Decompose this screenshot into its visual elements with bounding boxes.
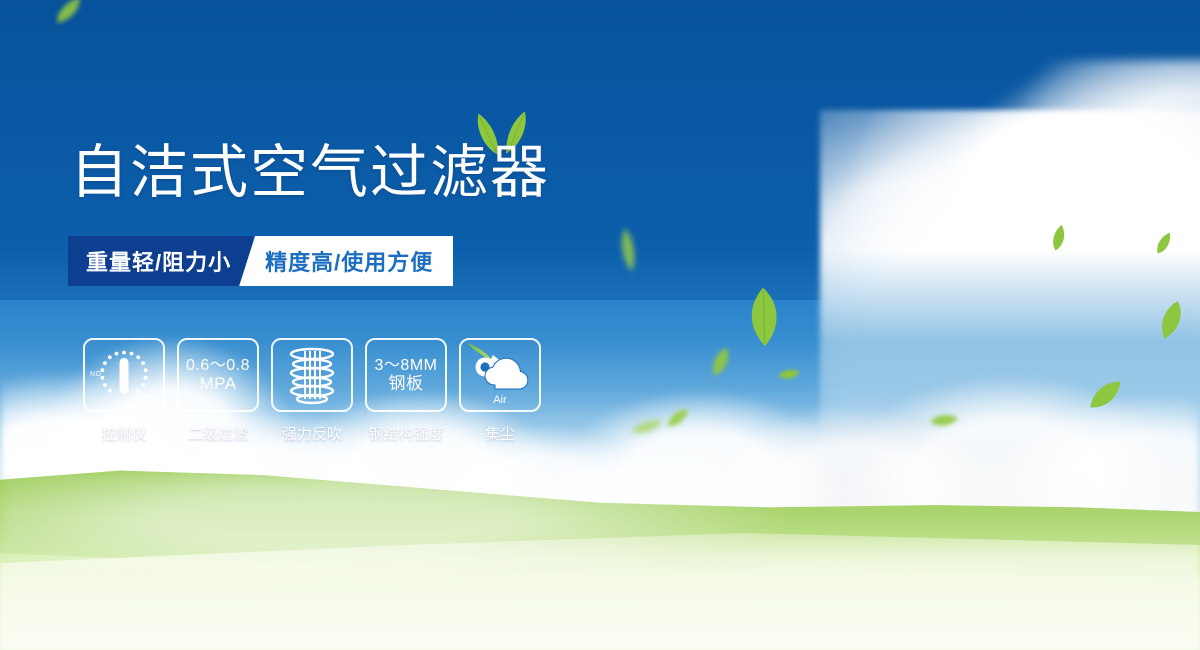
- steel-material: 钢板: [375, 374, 438, 393]
- pressure-value: 0.6〜0.8: [186, 357, 250, 375]
- steel-thickness: 3〜8MM: [375, 357, 438, 375]
- feature-icon-box: Air: [459, 338, 541, 412]
- subtitle-left-panel: 重量轻/阻力小: [68, 236, 253, 286]
- feature-label: 集尘: [485, 423, 515, 444]
- filter-cartridge-icon: [283, 345, 341, 405]
- feature-label: 二级过滤: [188, 423, 248, 444]
- feature-item-secondary-filter[interactable]: 0.6〜0.8 MPA 二级过滤: [177, 338, 259, 444]
- feature-item-dust-collection[interactable]: Air 集尘: [459, 338, 541, 444]
- banner-content: 自洁式空气过滤器 重量轻/阻力小 精度高/使用方便: [0, 0, 1200, 650]
- pressure-unit: MPA: [186, 374, 250, 393]
- feature-list: NO OFF 控制仪 0.6〜0.8 MPA 二级过滤: [83, 338, 541, 444]
- pressure-text-icon: 0.6〜0.8 MPA: [186, 357, 250, 394]
- air-label: Air: [461, 394, 539, 406]
- product-banner: 自洁式空气过滤器 重量轻/阻力小 精度高/使用方便: [0, 0, 1200, 650]
- feature-icon-box: NO OFF: [83, 338, 165, 412]
- feature-icon-box: [271, 338, 353, 412]
- feature-label: 控制仪: [101, 423, 146, 444]
- subtitle-right-panel: 精度高/使用方便: [239, 236, 453, 286]
- gauge-off-label: OFF: [139, 394, 155, 401]
- feature-label: 钢结构强度: [368, 423, 443, 444]
- feature-icon-box: 0.6〜0.8 MPA: [177, 338, 259, 412]
- feature-label: 强力反吹: [282, 423, 342, 444]
- steel-plate-text-icon: 3〜8MM 钢板: [375, 357, 438, 394]
- feature-item-controller[interactable]: NO OFF 控制仪: [83, 338, 165, 444]
- feature-item-steel-strength[interactable]: 3〜8MM 钢板 钢结构强度: [365, 338, 447, 444]
- page-title: 自洁式空气过滤器: [70, 144, 550, 202]
- gauge-no-label: NO: [90, 371, 102, 378]
- feature-icon-box: 3〜8MM 钢板: [365, 338, 447, 412]
- feature-item-reverse-blow[interactable]: 强力反吹: [271, 338, 353, 444]
- subtitle-bar: 重量轻/阻力小 精度高/使用方便: [68, 236, 453, 286]
